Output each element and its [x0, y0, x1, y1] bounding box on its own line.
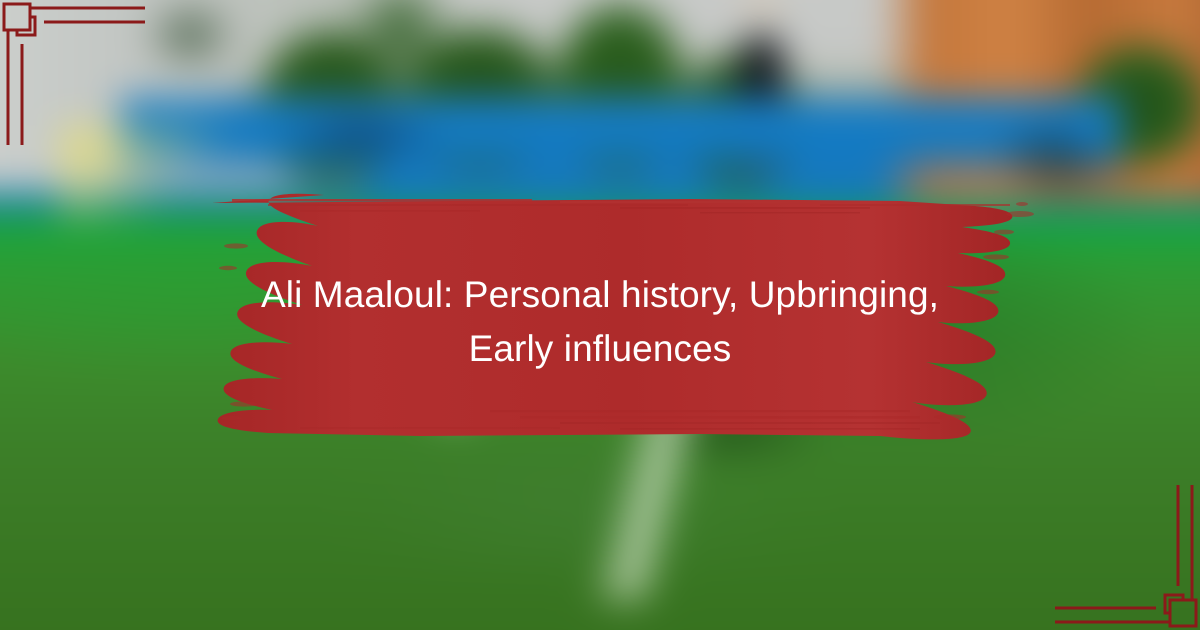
banner-card: Ali Maaloul: Personal history, Upbringin… [0, 0, 1200, 630]
banner-title: Ali Maaloul: Personal history, Upbringin… [180, 268, 1020, 375]
corner-frame-icon [0, 0, 160, 160]
corner-frame-bottom-right [1040, 470, 1200, 630]
corner-frame-icon [1040, 470, 1200, 630]
title-line-2: Early influences [180, 322, 1020, 376]
corner-frame-top-left [0, 0, 160, 160]
title-line-1: Ali Maaloul: Personal history, Upbringin… [180, 268, 1020, 322]
